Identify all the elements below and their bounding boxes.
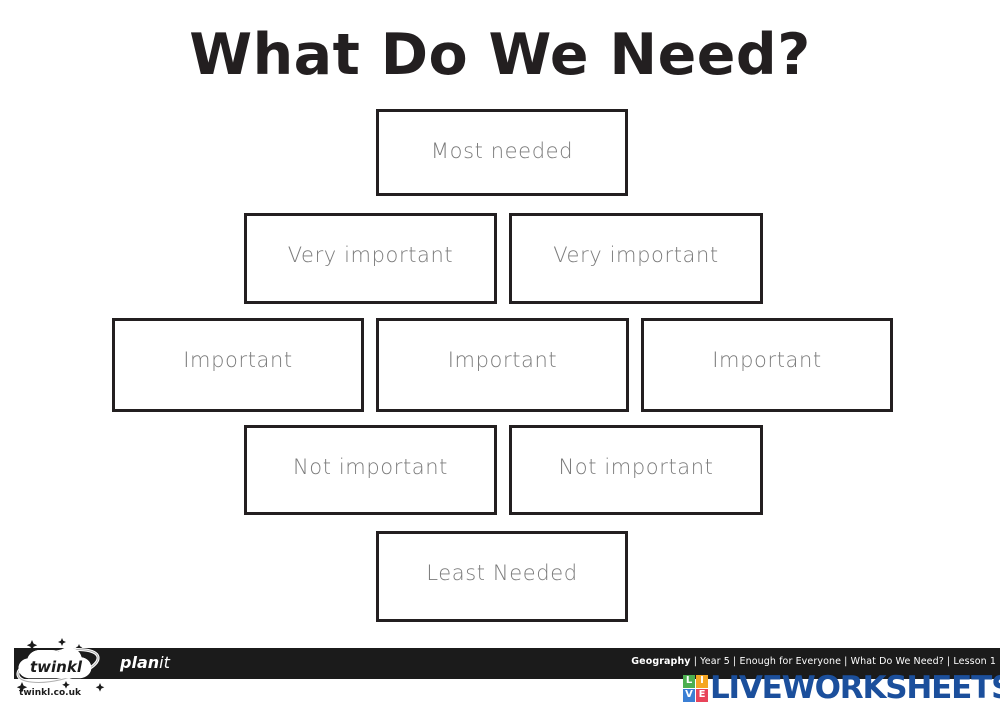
pyramid-box-important-3[interactable]: Important [641,318,893,412]
pyramid-box-label: Important [183,348,293,372]
liveworksheets-tile-v: V [683,689,695,702]
twinkl-logo: twinkl twinkl.co.uk [10,636,122,698]
pyramid-box-label: Important [448,348,558,372]
twinkl-wordmark: twinkl [30,658,83,676]
pyramid-box-very-important-2[interactable]: Very important [509,213,763,304]
pyramid-box-important-2[interactable]: Important [376,318,629,412]
worksheet-page: What Do We Need? Most needed Very import… [0,0,1000,707]
liveworksheets-tile-grid: L I V E [683,675,708,702]
page-title: What Do We Need? [0,22,1000,88]
pyramid-box-label: Least Needed [426,561,577,585]
liveworksheets-tile-i: I [696,675,708,688]
pyramid-box-label: Not important [558,455,713,479]
pyramid-box-label: Very important [553,243,719,267]
breadcrumb-rest: | Year 5 | Enough for Everyone | What Do… [691,656,996,667]
planit-plan: plan [120,653,159,672]
liveworksheets-logo[interactable]: L I V E LIVEWORKSHEETS [683,671,1000,705]
pyramid-box-not-important-2[interactable]: Not important [509,425,763,515]
pyramid-box-important-1[interactable]: Important [112,318,364,412]
pyramid-box-label: Not important [293,455,448,479]
liveworksheets-wordmark: LIVEWORKSHEETS [710,673,1000,704]
liveworksheets-tile-l: L [683,675,695,688]
breadcrumb-subject: Geography [631,656,690,667]
pyramid-box-most-needed[interactable]: Most needed [376,109,628,196]
pyramid-box-label: Most needed [431,139,573,163]
liveworksheets-tile-e: E [696,689,708,702]
pyramid-box-label: Important [712,348,822,372]
pyramid-box-not-important-1[interactable]: Not important [244,425,497,515]
planit-it: it [159,653,170,672]
twinkl-website: twinkl.co.uk [19,688,82,698]
pyramid-box-very-important-1[interactable]: Very important [244,213,497,304]
footer-breadcrumb: Geography | Year 5 | Enough for Everyone… [631,656,996,667]
pyramid-box-least-needed[interactable]: Least Needed [376,531,628,622]
planit-wordmark: planit [120,653,170,672]
pyramid-box-label: Very important [288,243,454,267]
